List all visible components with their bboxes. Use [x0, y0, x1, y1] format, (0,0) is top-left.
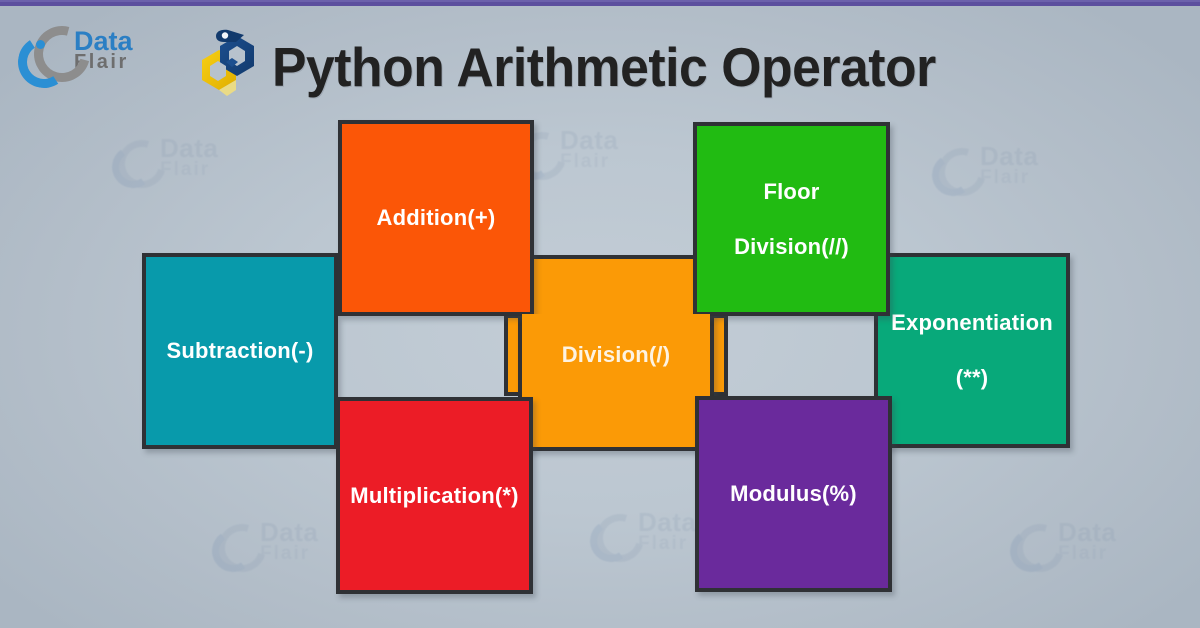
watermark-name-bottom: Flair — [160, 159, 210, 180]
dataflair-logo-icon — [112, 136, 156, 180]
watermark-name-bottom: Flair — [560, 151, 610, 172]
watermark-name-bottom: Flair — [980, 167, 1030, 188]
watermark-name-bottom: Flair — [260, 543, 310, 564]
watermark: Data Flair — [112, 136, 218, 180]
top-accent-bar — [0, 0, 1200, 6]
watermark: Data Flair — [212, 520, 318, 564]
operator-label-floor-division-line2: Division(//) — [726, 233, 857, 261]
watermark-name-top: Data — [560, 125, 618, 155]
title-row: Python Arithmetic Operator — [198, 26, 978, 108]
watermark-name-top: Data — [1058, 517, 1116, 547]
python-hex-snake-icon — [198, 26, 260, 108]
operator-label-subtraction: Subtraction(-) — [158, 337, 321, 365]
page-title: Python Arithmetic Operator — [272, 35, 936, 99]
operator-label-floor-division-line1: Floor — [726, 178, 857, 206]
watermark: Data Flair — [932, 144, 1038, 188]
operator-label-multiplication: Multiplication(*) — [342, 482, 526, 510]
operator-box-addition[interactable]: Addition(+) — [338, 120, 534, 316]
dataflair-logo-icon — [932, 144, 976, 188]
dataflair-logo-icon — [212, 520, 256, 564]
watermark-name-top: Data — [638, 507, 696, 537]
operator-label-addition: Addition(+) — [369, 204, 504, 232]
operator-box-multiplication[interactable]: Multiplication(*) — [336, 397, 533, 594]
operator-label-exponentiation-line2: (**) — [883, 364, 1061, 392]
dataflair-logo-icon — [590, 510, 634, 554]
dataflair-logo-icon — [1010, 520, 1054, 564]
watermark-name-top: Data — [980, 141, 1038, 171]
operator-box-exponentiation[interactable]: Exponentiation (**) — [874, 253, 1070, 448]
operator-box-floor-division[interactable]: Floor Division(//) — [693, 122, 890, 316]
operator-box-subtraction[interactable]: Subtraction(-) — [142, 253, 338, 449]
watermark-name-top: Data — [260, 517, 318, 547]
watermark-name-top: Data — [160, 133, 218, 163]
operator-label-exponentiation-line1: Exponentiation — [883, 309, 1061, 337]
watermark-name-bottom: Flair — [1058, 543, 1108, 564]
operator-box-modulus[interactable]: Modulus(%) — [695, 396, 892, 592]
top-accent-bar-highlight — [0, 0, 1200, 2]
dataflair-logo-icon — [14, 22, 72, 78]
watermark: Data Flair — [590, 510, 696, 554]
watermark-name-bottom: Flair — [638, 533, 688, 554]
operator-label-division: Division(/) — [504, 314, 728, 396]
watermark: Data Flair — [1010, 520, 1116, 564]
operator-label-modulus: Modulus(%) — [722, 480, 865, 508]
infographic-canvas: Data Flair Data Flair Data Flair Data Fl… — [0, 0, 1200, 628]
brand-logo: Data Flair — [14, 22, 133, 78]
